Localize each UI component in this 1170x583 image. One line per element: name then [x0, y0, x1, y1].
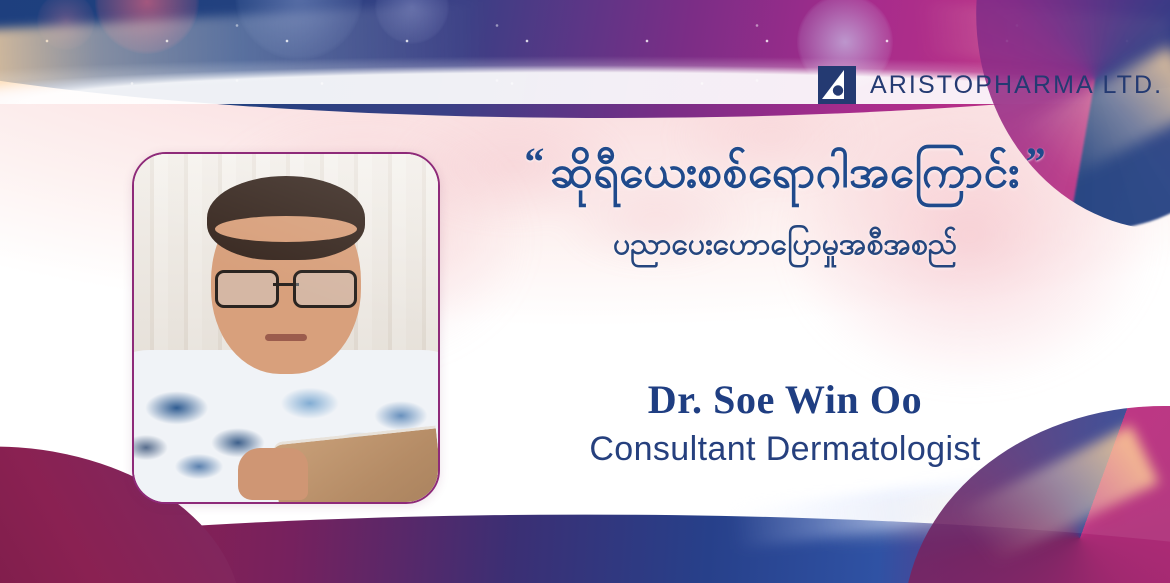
close-quote-mark: ” [1026, 146, 1046, 178]
speaker-block: Dr. Soe Win Oo Consultant Dermatologist [440, 378, 1130, 468]
speaker-name: Dr. Soe Win Oo [440, 378, 1130, 423]
speaker-portrait [132, 152, 440, 504]
slide-subtitle: ပညာပေးဟောပြောမှုအစီအစည် [440, 222, 1130, 267]
portrait-hair [207, 176, 365, 260]
portrait-mouth [265, 334, 307, 341]
aristopharma-logo-icon [818, 66, 856, 104]
brand-name: ARISTOPHARMA LTD. [870, 71, 1163, 100]
open-quote-mark: “ [524, 146, 544, 178]
headline-block: “ ဆိုရီယေးစစ်ရောဂါအကြောင်း ” ပညာပေးဟောပြ… [440, 140, 1130, 267]
portrait-image [134, 154, 438, 502]
glasses-lens-right [293, 270, 357, 308]
presentation-slide: ARISTOPHARMA LTD. “ ဆိုရီယေးစစ်ရောဂါအကြေ… [0, 0, 1170, 583]
portrait-hand [238, 448, 308, 500]
brand-lockup: ARISTOPHARMA LTD. [818, 66, 1163, 104]
glasses-lens-left [215, 270, 279, 308]
slide-title: ဆိုရီယေးစစ်ရောဂါအကြောင်း [550, 140, 1019, 206]
speaker-role: Consultant Dermatologist [440, 431, 1130, 468]
title-row: “ ဆိုရီယေးစစ်ရောဂါအကြောင်း ” [440, 140, 1130, 206]
portrait-glasses [215, 270, 357, 304]
